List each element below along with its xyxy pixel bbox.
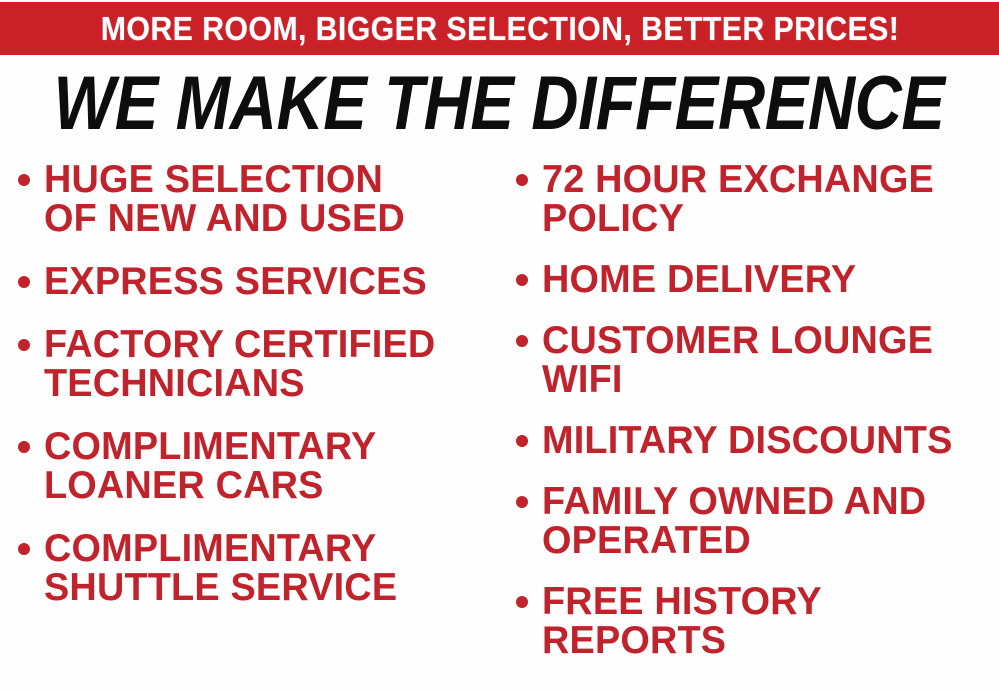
list-item: FREE HISTORY REPORTS: [516, 582, 996, 660]
bullet-dot-icon: [18, 543, 30, 555]
list-item-label: HOME DELIVERY: [542, 260, 856, 299]
promo-banner: MORE ROOM, BIGGER SELECTION, BETTER PRIC…: [0, 2, 999, 55]
bullet-dot-icon: [18, 276, 30, 288]
list-item-label: MILITARY DISCOUNTS: [542, 421, 953, 460]
list-item: FAMILY OWNED AND OPERATED: [516, 482, 996, 560]
headline: WE MAKE THE DIFFERENCE: [0, 66, 999, 142]
list-item: HUGE SELECTION OF NEW AND USED: [18, 160, 498, 238]
list-item: COMPLIMENTARY SHUTTLE SERVICE: [18, 529, 498, 607]
list-item-label: FACTORY CERTIFIED TECHNICIANS: [44, 325, 435, 403]
benefits-column-left: HUGE SELECTION OF NEW AND USED EXPRESS S…: [18, 160, 498, 692]
list-item-label: CUSTOMER LOUNGE WIFI: [542, 321, 933, 399]
benefits-column-right: 72 HOUR EXCHANGE POLICY HOME DELIVERY CU…: [516, 160, 996, 692]
list-item-label: FREE HISTORY REPORTS: [542, 582, 822, 660]
bullet-dot-icon: [516, 174, 528, 186]
bullet-dot-icon: [18, 339, 30, 351]
list-item-label: COMPLIMENTARY LOANER CARS: [44, 427, 376, 505]
bullet-dot-icon: [516, 274, 528, 286]
promo-banner-text: MORE ROOM, BIGGER SELECTION, BETTER PRIC…: [100, 12, 898, 45]
list-item: 72 HOUR EXCHANGE POLICY: [516, 160, 996, 238]
bullet-dot-icon: [516, 596, 528, 608]
list-item-label: EXPRESS SERVICES: [44, 262, 427, 301]
list-item: CUSTOMER LOUNGE WIFI: [516, 321, 996, 399]
bullet-dot-icon: [516, 335, 528, 347]
bullet-dot-icon: [516, 435, 528, 447]
list-item-label: HUGE SELECTION OF NEW AND USED: [44, 160, 405, 238]
list-item: MILITARY DISCOUNTS: [516, 421, 996, 460]
bullet-dot-icon: [516, 496, 528, 508]
benefits-columns: HUGE SELECTION OF NEW AND USED EXPRESS S…: [0, 160, 999, 692]
list-item: EXPRESS SERVICES: [18, 262, 498, 301]
headline-text: WE MAKE THE DIFFERENCE: [54, 66, 945, 142]
list-item: COMPLIMENTARY LOANER CARS: [18, 427, 498, 505]
list-item: HOME DELIVERY: [516, 260, 996, 299]
list-item-label: COMPLIMENTARY SHUTTLE SERVICE: [44, 529, 397, 607]
list-item-label: FAMILY OWNED AND OPERATED: [542, 482, 926, 560]
list-item: FACTORY CERTIFIED TECHNICIANS: [18, 325, 498, 403]
bullet-dot-icon: [18, 441, 30, 453]
dealership-advertisement: MORE ROOM, BIGGER SELECTION, BETTER PRIC…: [0, 0, 999, 692]
list-item-label: 72 HOUR EXCHANGE POLICY: [542, 160, 934, 238]
bullet-dot-icon: [18, 174, 30, 186]
